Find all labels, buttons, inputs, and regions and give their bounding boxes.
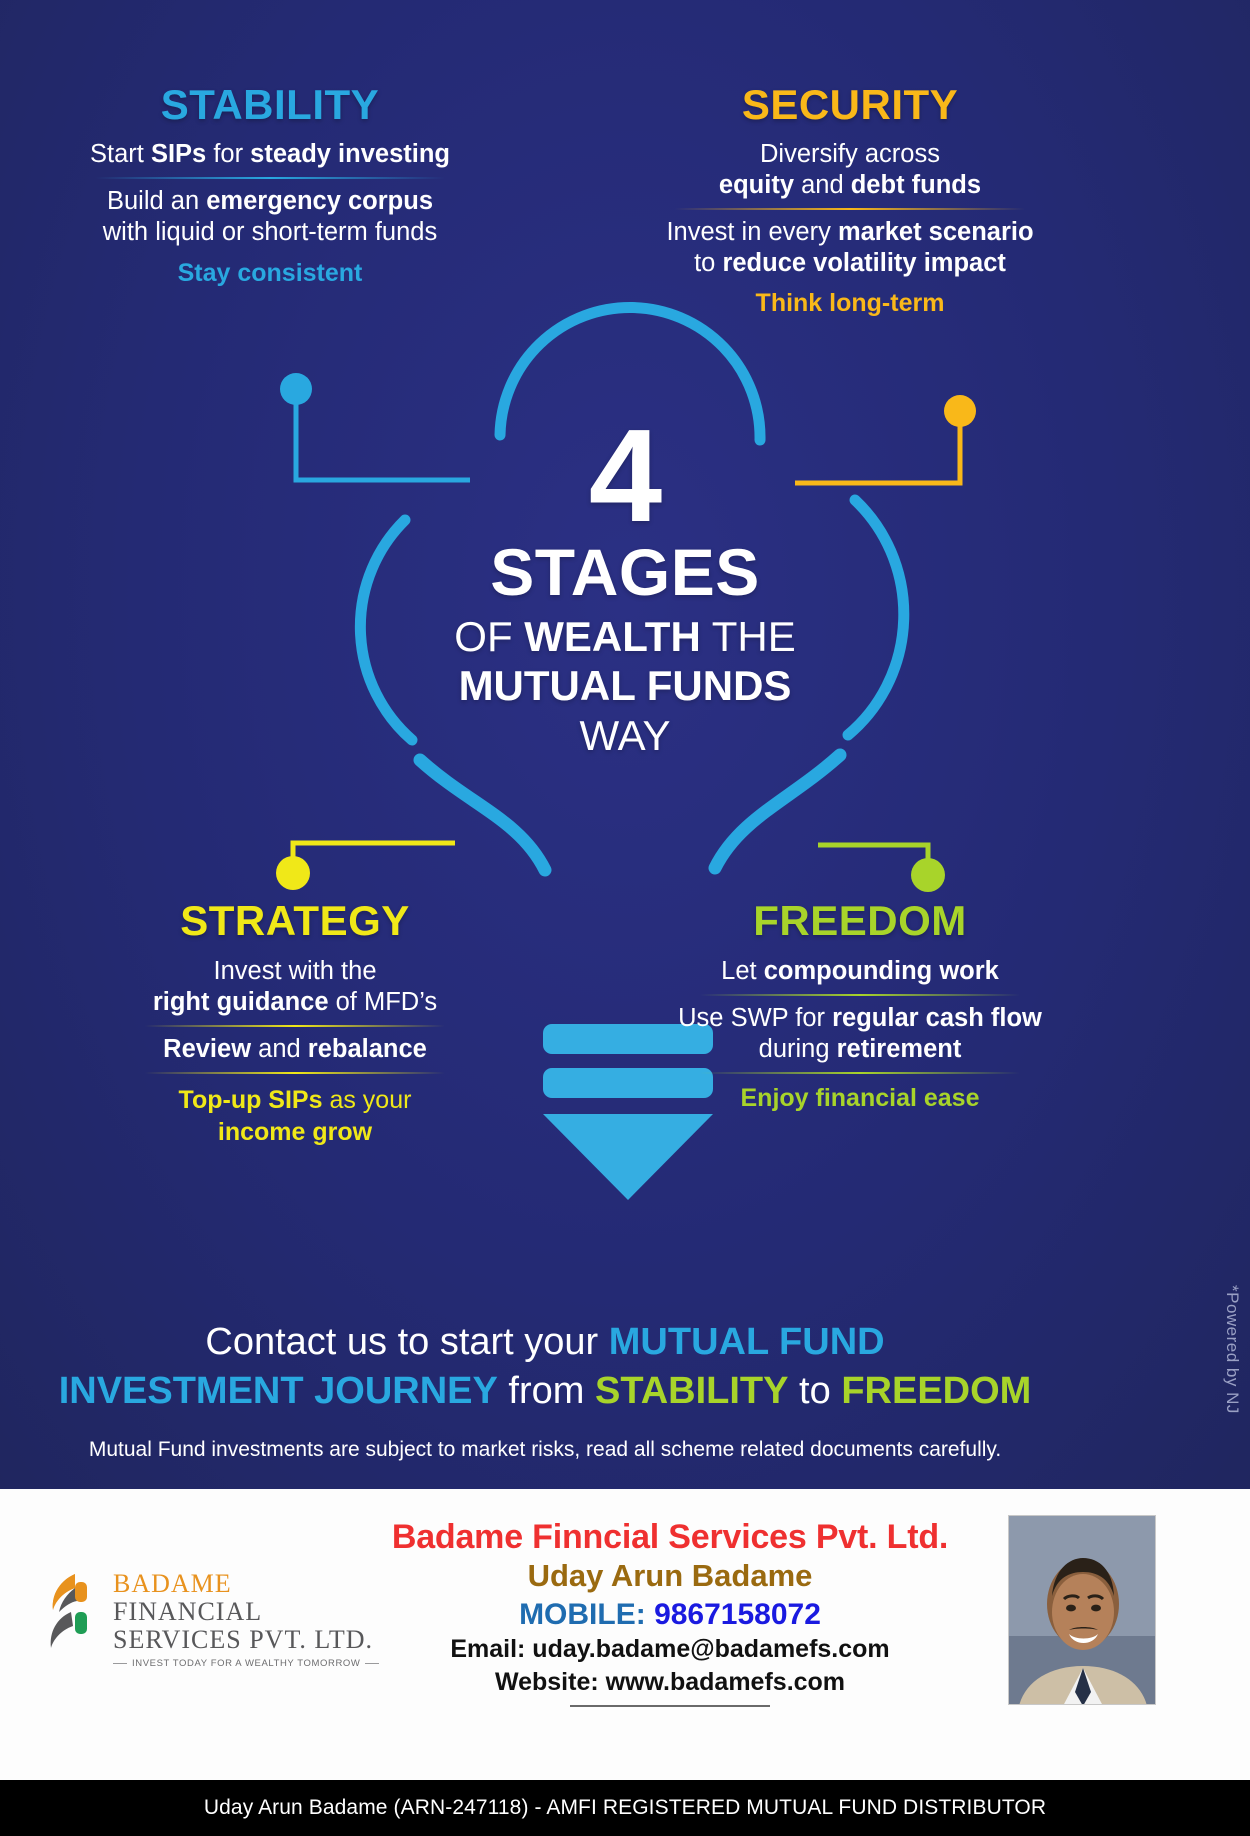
portrait-illustration	[1009, 1516, 1156, 1705]
security-body: Diversify across equity and debt funds I…	[640, 139, 1060, 279]
cta-p7: FREEDOM	[841, 1370, 1031, 1412]
strategy-l2b: of MFD’s	[329, 988, 438, 1016]
cta-p6: to	[789, 1370, 842, 1412]
freedom-line-1: Let compounding work	[660, 956, 1060, 987]
security-tagline: Think long-term	[640, 289, 1060, 318]
freedom-l2a: Use SWP for	[678, 1004, 832, 1032]
security-line-3: Invest in every market scenario	[640, 217, 1060, 248]
cta-line-1: Contact us to start your MUTUAL FUND	[40, 1318, 1050, 1367]
stability-line-3: with liquid or short-term funds	[40, 217, 500, 248]
bottom-disclosure-bar: Uday Arun Badame (ARN-247118) - AMFI REG…	[0, 1780, 1250, 1836]
stability-l1a: Start	[90, 140, 151, 168]
strategy-l2a: right guidance	[153, 988, 329, 1016]
company-logo: BADAME FINANCIAL SERVICES PVT. LTD. INVE…	[45, 1564, 365, 1659]
strategy-line-3: Review and rebalance	[95, 1034, 495, 1065]
quadrant-freedom: FREEDOM Let compounding work Use SWP for…	[660, 900, 1060, 1113]
headline-stages: STAGES	[325, 538, 925, 607]
freedom-divider-top	[700, 994, 1020, 996]
strategy-l3b: and	[251, 1035, 308, 1063]
freedom-divider-bottom	[700, 1072, 1020, 1074]
contact-person-name: Uday Arun Badame	[340, 1557, 1000, 1596]
quadrant-strategy: STRATEGY Invest with the right guidance …	[95, 900, 495, 1148]
call-to-action: Contact us to start your MUTUAL FUND INV…	[40, 1318, 1050, 1417]
strategy-tagline-line-2: income grow	[95, 1116, 495, 1148]
strategy-line-1: Invest with the	[95, 956, 495, 987]
stability-line-1: Start SIPs for steady investing	[40, 139, 500, 170]
freedom-tagline: Enjoy financial ease	[660, 1084, 1060, 1113]
center-headline: 4 STAGES OF WEALTH THE MUTUAL FUNDS WAY	[325, 415, 925, 760]
freedom-body: Let compounding work Use SWP for regular…	[660, 956, 1060, 1074]
contact-company-name: Badame Finncial Services Pvt. Ltd.	[340, 1517, 1000, 1557]
stability-line-2: Build an emergency corpus	[40, 186, 500, 217]
cta-p1: Contact us to start your	[205, 1321, 608, 1363]
cta-p5: STABILITY	[595, 1370, 789, 1412]
security-l2b: and	[794, 171, 851, 199]
freedom-l1a: Let	[721, 957, 764, 985]
bottom-bar-text: Uday Arun Badame (ARN-247118) - AMFI REG…	[204, 1796, 1046, 1820]
strategy-title: STRATEGY	[95, 900, 495, 942]
freedom-l3b: retirement	[837, 1035, 962, 1063]
security-line-4: to reduce volatility impact	[640, 248, 1060, 279]
headline-l3b: WEALTH	[524, 613, 701, 660]
stability-tagline: Stay consistent	[40, 259, 500, 288]
stability-l1d: steady investing	[250, 140, 450, 168]
security-l2c: debt funds	[851, 171, 981, 199]
strategy-body: Invest with the right guidance of MFD’s …	[95, 956, 495, 1074]
stability-body: Start SIPs for steady investing Build an…	[40, 139, 500, 248]
headline-number: 4	[325, 415, 925, 536]
security-l4b: reduce volatility impact	[722, 249, 1005, 277]
headline-line-3: OF WEALTH THE	[325, 612, 925, 662]
security-title: SECURITY	[640, 84, 1060, 126]
headline-l3a: OF	[454, 613, 524, 660]
freedom-line-3: during retirement	[660, 1034, 1060, 1065]
freedom-line-2: Use SWP for regular cash flow	[660, 1003, 1060, 1034]
freedom-title: FREEDOM	[660, 900, 1060, 942]
infographic-poster: STABILITY Start SIPs for steady investin…	[0, 0, 1250, 1836]
security-l3a: Invest in every	[666, 218, 838, 246]
stability-l1c: for	[206, 140, 250, 168]
security-l3b: market scenario	[838, 218, 1034, 246]
stability-l2b: emergency corpus	[206, 187, 433, 215]
freedom-l2b: regular cash flow	[832, 1004, 1042, 1032]
advisor-portrait-photo	[1008, 1515, 1156, 1705]
strategy-l3c: rebalance	[308, 1035, 427, 1063]
strategy-line-2: right guidance of MFD’s	[95, 987, 495, 1018]
contact-mobile-number: 9867158072	[654, 1598, 821, 1631]
security-line-2: equity and debt funds	[640, 170, 1060, 201]
headline-line-4: MUTUAL FUNDS	[325, 661, 925, 711]
cta-p4: from	[498, 1370, 595, 1412]
strategy-divider-bottom	[145, 1072, 445, 1074]
security-l4a: to	[694, 249, 722, 277]
security-line-1: Diversify across	[640, 139, 1060, 170]
freedom-l3a: during	[759, 1035, 837, 1063]
contact-mobile-label: MOBILE:	[519, 1598, 654, 1631]
headline-l3c: THE	[701, 613, 796, 660]
logo-name-orange: BADAME	[113, 1569, 232, 1598]
main-blue-panel: STABILITY Start SIPs for steady investin…	[0, 0, 1250, 1489]
strategy-l3a: Review	[163, 1035, 251, 1063]
stability-title: STABILITY	[40, 84, 500, 126]
cta-p2: MUTUAL FUND	[609, 1321, 885, 1363]
freedom-l1b: compounding work	[764, 957, 999, 985]
stability-divider	[95, 177, 445, 179]
strategy-tagline: Top-up SIPs as your income grow	[95, 1084, 495, 1148]
strategy-divider-top	[145, 1025, 445, 1027]
cta-p3: INVESTMENT JOURNEY	[59, 1370, 498, 1412]
contact-details: Badame Finncial Services Pvt. Ltd. Uday …	[340, 1517, 1000, 1707]
cta-line-2: INVESTMENT JOURNEY from STABILITY to FRE…	[40, 1367, 1050, 1416]
strategy-tag-a: Top-up SIPs	[179, 1086, 323, 1114]
contact-underline	[570, 1705, 770, 1707]
contact-mobile[interactable]: MOBILE: 9867158072	[340, 1596, 1000, 1634]
footer-contact-panel: BADAME FINANCIAL SERVICES PVT. LTD. INVE…	[0, 1489, 1250, 1780]
stability-l1b: SIPs	[151, 140, 206, 168]
logo-tagline-text: INVEST TODAY FOR A WEALTHY TOMORROW	[132, 1658, 360, 1669]
badame-leaf-logo-icon	[45, 1572, 107, 1650]
quadrant-stability: STABILITY Start SIPs for steady investin…	[40, 84, 500, 288]
powered-by-label: *Powered by NJ	[1222, 1285, 1242, 1414]
disclaimer-text: Mutual Fund investments are subject to m…	[40, 1438, 1050, 1462]
contact-website[interactable]: Website: www.badamefs.com	[340, 1666, 1000, 1699]
headline-line-5: WAY	[325, 711, 925, 761]
logo-rule-left	[113, 1663, 127, 1664]
quadrant-security: SECURITY Diversify across equity and deb…	[640, 84, 1060, 318]
contact-email[interactable]: Email: uday.badame@badamefs.com	[340, 1633, 1000, 1666]
strategy-tagline-line-1: Top-up SIPs as your	[95, 1084, 495, 1116]
stability-l2a: Build an	[107, 187, 206, 215]
security-divider	[675, 208, 1025, 210]
logo-name-grey: FINANCIAL	[113, 1597, 262, 1626]
strategy-tag-b: as your	[323, 1086, 412, 1114]
security-l2a: equity	[719, 171, 794, 199]
